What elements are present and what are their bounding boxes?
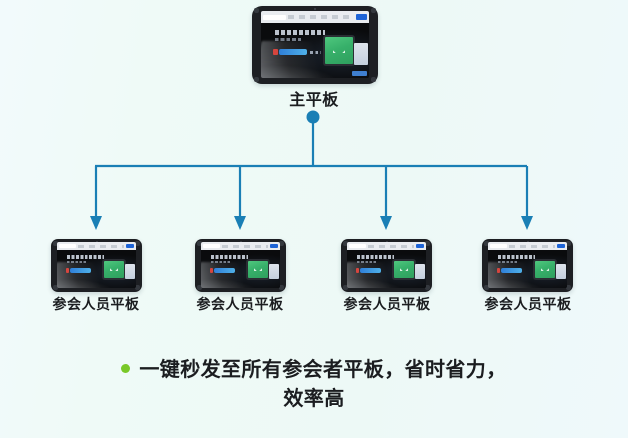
browser-chrome-bar	[57, 242, 136, 250]
slide-subheadline	[211, 261, 230, 263]
participant-tablet-device-3[interactable]	[341, 239, 432, 292]
slide-badge	[352, 71, 367, 76]
master-tablet-screen	[261, 11, 369, 78]
tab-strip	[509, 245, 555, 248]
caption-line-2: 效率高	[0, 384, 628, 413]
participant-tablet-device-2[interactable]	[195, 239, 286, 292]
slide-subheadline	[275, 38, 301, 41]
caption-block: 一键秒发至所有参会者平板，省时省力， 效率高	[0, 355, 628, 413]
participant-tablet-screen-3	[347, 242, 426, 288]
tab-strip	[222, 245, 268, 248]
inset-tablet-icon	[246, 259, 270, 280]
arrow-down-icon	[234, 216, 246, 230]
account-button-icon	[126, 244, 134, 248]
url-bar	[349, 244, 366, 247]
participant-tablet-device-1[interactable]	[51, 239, 142, 292]
slide-headline	[67, 255, 103, 258]
arrow-down-icon	[521, 216, 533, 230]
bezel-bumper	[371, 77, 376, 82]
participant-tablet-screen-4	[488, 242, 567, 288]
hub-dot-icon	[307, 111, 320, 124]
tab-strip	[368, 245, 414, 248]
slide-side-card	[125, 264, 135, 279]
slide-highlight-pill	[70, 268, 91, 272]
slide-marker-icon	[66, 268, 70, 273]
presentation-slide	[347, 250, 426, 288]
participant-tablet-device-4[interactable]	[482, 239, 573, 292]
presentation-slide	[201, 250, 280, 288]
account-button-icon	[356, 14, 367, 20]
participant-tablet-screen-1	[57, 242, 136, 288]
slide-side-card	[354, 43, 368, 65]
browser-chrome-bar	[261, 11, 369, 23]
master-tablet-device[interactable]	[252, 6, 378, 84]
slide-headline	[498, 255, 534, 258]
inset-tablet-icon	[533, 259, 557, 280]
tab-strip	[288, 15, 354, 19]
slide-subheadline	[357, 261, 376, 263]
arrow-down-icon	[90, 216, 102, 230]
url-bar	[203, 244, 220, 247]
url-bar	[490, 244, 507, 247]
participant-tablet-label-1: 参会人员平板	[31, 294, 161, 314]
browser-chrome-bar	[488, 242, 567, 250]
inset-tablet-icon	[392, 259, 416, 280]
participant-tablet-label-3: 参会人员平板	[322, 294, 452, 314]
browser-chrome-bar	[347, 242, 426, 250]
inset-tablet-icon	[323, 35, 355, 66]
slide-marker-icon	[273, 49, 278, 56]
url-bar	[59, 244, 76, 247]
bezel-bumper	[371, 8, 376, 13]
account-button-icon	[270, 244, 278, 248]
participant-tablet-label-2: 参会人员平板	[175, 294, 305, 314]
slide-highlight-pill	[360, 268, 381, 272]
account-button-icon	[557, 244, 565, 248]
slide-headline	[357, 255, 393, 258]
slide-caption-text	[310, 51, 322, 54]
slide-subheadline	[498, 261, 517, 263]
slide-highlight-pill	[279, 49, 307, 55]
slide-headline	[211, 255, 247, 258]
slide-side-card	[415, 264, 425, 279]
browser-chrome-bar	[201, 242, 280, 250]
account-button-icon	[416, 244, 424, 248]
slide-marker-icon	[356, 268, 360, 273]
bezel-bumper	[254, 8, 259, 13]
arrow-down-icon	[380, 216, 392, 230]
bezel-bumper	[254, 77, 259, 82]
presentation-slide	[261, 23, 369, 78]
master-tablet-label: 主平板	[0, 86, 628, 110]
presentation-slide	[57, 250, 136, 288]
slide-side-card	[556, 264, 566, 279]
diagram-canvas: 主平板 参会人员平板	[0, 0, 628, 438]
slide-headline	[275, 30, 325, 35]
slide-highlight-pill	[501, 268, 522, 272]
inset-tablet-icon	[102, 259, 126, 280]
presentation-slide	[488, 250, 567, 288]
bullet-dot-icon	[121, 364, 130, 373]
slide-side-card	[269, 264, 279, 279]
participant-tablet-screen-2	[201, 242, 280, 288]
slide-marker-icon	[497, 268, 501, 273]
slide-marker-icon	[210, 268, 214, 273]
caption-line-1: 一键秒发至所有参会者平板，省时省力，	[139, 357, 506, 381]
slide-highlight-pill	[214, 268, 235, 272]
slide-subheadline	[67, 261, 86, 263]
participant-tablet-label-4: 参会人员平板	[463, 294, 593, 314]
tab-strip	[78, 245, 124, 248]
url-bar	[263, 15, 286, 20]
